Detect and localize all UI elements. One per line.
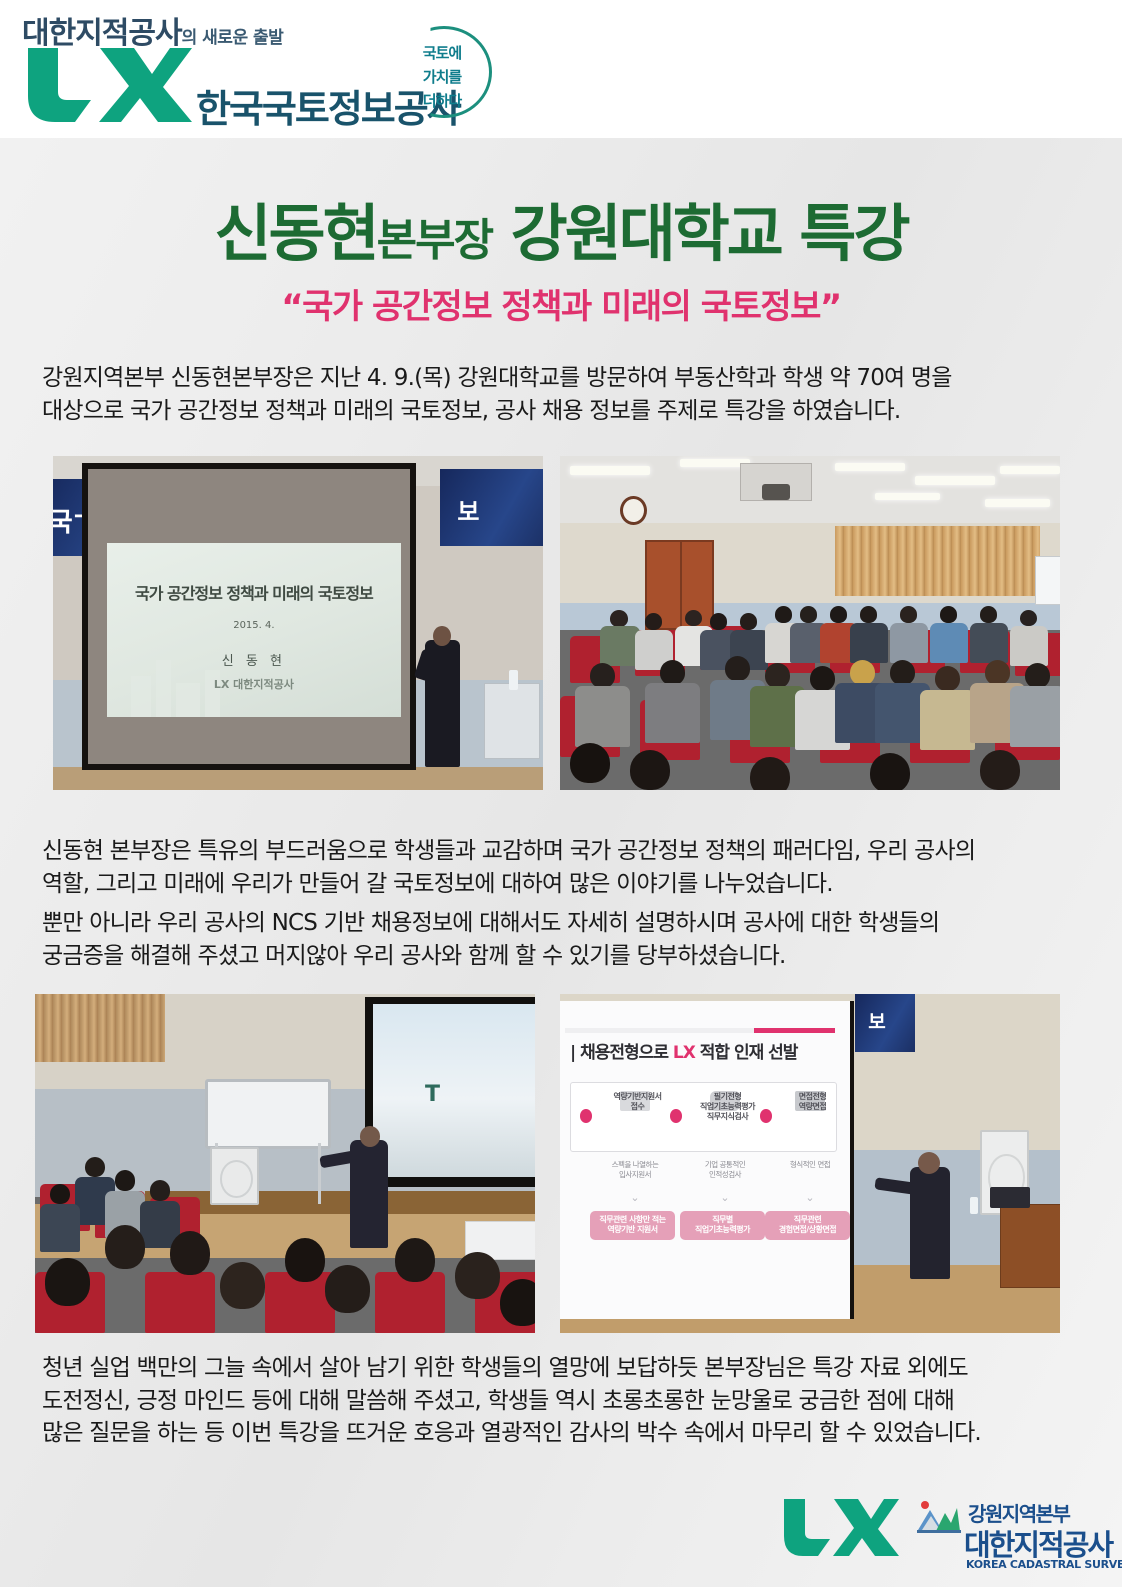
slogan-line-2: 가치를	[410, 66, 474, 87]
step-pill: 직무별 직업기초능력평가	[680, 1211, 765, 1240]
audience-head	[830, 606, 847, 623]
audience-head	[710, 613, 727, 630]
paragraph-end: 청년 실업 백만의 그늘 속에서 살아 남기 위한 학생들의 열망에 보답하듯 …	[42, 1352, 1092, 1450]
audience-body	[600, 626, 640, 666]
audience-body	[850, 623, 888, 663]
audience-body	[40, 1204, 80, 1251]
loudspeaker	[210, 1147, 259, 1205]
presenter-body	[910, 1167, 950, 1279]
audience-head	[1020, 610, 1037, 627]
audience-head	[890, 660, 915, 685]
photo-speaker-whiteboard: T	[35, 994, 535, 1333]
slogan-line-1: 국토에	[410, 42, 474, 63]
kcsc-corp-en: KOREA CADASTRAL SURVEY CORP.	[966, 1558, 1122, 1571]
audience-head	[985, 660, 1010, 685]
floor	[53, 767, 543, 790]
photo3-scene: T	[35, 994, 535, 1333]
step-subtext: 스펙을 나열하는 입사지원서	[595, 1160, 675, 1180]
whiteboard	[205, 1079, 331, 1149]
audience-head-front	[220, 1262, 265, 1309]
podium	[1000, 1204, 1060, 1287]
slide-presenter-name: 신 동 현	[117, 650, 391, 669]
slide-title-text: 국가 공간정보 정책과 미래의 국토정보	[117, 580, 391, 604]
lx-logo-icon	[22, 44, 194, 122]
step-arrow-icon	[760, 1109, 772, 1123]
audience-head-front	[105, 1225, 145, 1269]
kcsc-logo: 강원지역본부 대한지적공사 KOREA CADASTRAL SURVEY COR…	[916, 1486, 1110, 1578]
photo1-scene: 국가 공간정보 정책과 미래의 국토정보 2015. 4. 신 동 현 LX 대…	[53, 456, 543, 790]
window-curtain	[835, 526, 1040, 596]
audience-head	[940, 606, 957, 623]
audience-head	[1025, 663, 1050, 688]
seat	[145, 1272, 215, 1333]
audience-body	[890, 623, 928, 663]
slide-date-text: 2015. 4.	[117, 620, 391, 631]
slide-accent-bar	[565, 1028, 835, 1033]
step-arrow-icon	[670, 1109, 682, 1123]
page-title-rest: 강원대학교 특강	[492, 197, 907, 270]
mountain-mark-icon	[916, 1500, 962, 1538]
window-curtain	[35, 994, 165, 1062]
presenter-body	[425, 640, 459, 767]
step-label: 면접전형 역량면접	[775, 1092, 850, 1112]
audience-head	[685, 610, 702, 627]
photo-recruitment-slide: | 채용전형으로 LX 적합 인재 선발 역량기반지원서 접수 필기전형 직업기…	[560, 994, 1060, 1333]
slide-title-pre: | 채용전형으로	[570, 1043, 673, 1063]
audience-head	[900, 606, 917, 623]
audience-head-front	[980, 750, 1020, 790]
step-subtext: 기업 공통적인 인적성검사	[685, 1160, 765, 1180]
audience-head	[810, 666, 835, 691]
audience-head	[610, 610, 628, 627]
audience-body	[970, 623, 1008, 663]
audience-head	[850, 660, 875, 685]
paragraph-mid-2: 뿐만 아니라 우리 공사의 NCS 기반 채용정보에 대해서도 자세히 설명하시…	[42, 907, 1084, 972]
lx-logo-icon	[780, 1496, 900, 1558]
footer-logos: 강원지역본부 대한지적공사 KOREA CADASTRAL SURVEY COR…	[770, 1480, 1110, 1580]
audience-body	[1010, 626, 1048, 666]
audience-head-front	[870, 753, 910, 790]
slogan-badge: 국토에 가치를 더하다	[396, 26, 492, 118]
slide-title-accent: LX	[673, 1043, 695, 1063]
presenter-head	[360, 1126, 380, 1146]
audience-head	[935, 666, 960, 691]
chevron-down-icon: ⌄	[715, 1191, 735, 1204]
whiteboard	[1035, 556, 1060, 605]
step-subtext: 형식적인 면접	[770, 1160, 850, 1170]
step-label: 역량기반지원서 접수	[600, 1092, 675, 1112]
audience-head	[775, 606, 792, 623]
audience-head	[660, 660, 685, 685]
photo2-scene	[560, 456, 1060, 790]
audience-head-front	[285, 1238, 325, 1282]
audience-head	[725, 656, 750, 681]
audience-head	[740, 613, 757, 630]
paragraph-mid-1: 신동현 본부장은 특유의 부드러움으로 학생들과 교감하며 국가 공간정보 정책…	[42, 835, 1084, 900]
ceiling-light-6	[875, 493, 940, 500]
page-title: 신동현본부장 강원대학교 특강	[0, 183, 1122, 273]
paragraph-intro: 강원지역본부 신동현본부장은 지난 4. 9.(목) 강원대학교를 방문하여 부…	[42, 362, 1084, 427]
audience-head	[860, 606, 877, 623]
audience-head	[800, 606, 817, 623]
header-band: 대한지적공사의 새로운 출발 한국국토정보공사 국토에 가치를 더하다	[0, 0, 1122, 138]
page-title-name: 신동현	[214, 197, 376, 270]
audience-head-front	[630, 750, 670, 790]
header-tagline-rest: 의 새로운 출발	[182, 28, 284, 48]
side-desk	[484, 683, 540, 758]
projection-screen	[373, 1004, 536, 1177]
ceiling-light-3	[835, 463, 905, 472]
audience-body	[930, 623, 968, 663]
slide-title-post: 적합 인재 선발	[695, 1043, 798, 1063]
audience-head-front	[170, 1231, 210, 1275]
ceiling-light-4	[915, 476, 995, 485]
audience-head	[645, 613, 662, 630]
step-arrow-icon	[580, 1109, 592, 1123]
laptop	[990, 1187, 1030, 1207]
presenter-head	[918, 1152, 940, 1174]
audience-head	[980, 606, 997, 623]
slide-logo-text: LX 대한지적공사	[117, 676, 391, 692]
page-subtitle: “국가 공간정보 정책과 미래의 국토정보”	[0, 279, 1122, 328]
ceiling-light-5	[1000, 466, 1060, 474]
audience-head-front	[395, 1238, 435, 1282]
audience-head	[115, 1170, 135, 1190]
step-label: 필기전형 직업기초능력평가 직무지식검사	[690, 1092, 765, 1122]
audience-head	[590, 663, 615, 688]
audience-body	[645, 683, 700, 743]
photo-audience	[560, 456, 1060, 790]
photo4-scene: | 채용전형으로 LX 적합 인재 선발 역량기반지원서 접수 필기전형 직업기…	[560, 994, 1060, 1333]
audience-head-front	[455, 1252, 500, 1299]
chevron-down-icon: ⌄	[625, 1191, 645, 1204]
photo-lecture-screen: 국가 공간정보 정책과 미래의 국토정보 2015. 4. 신 동 현 LX 대…	[53, 456, 543, 790]
step-pill: 직무관련 경험면접/상황면접	[765, 1211, 850, 1240]
slide-text: T	[425, 1082, 440, 1107]
audience-head-front	[570, 743, 610, 783]
banner-right	[440, 469, 543, 546]
audience-body	[920, 690, 975, 750]
audience-head-front	[45, 1258, 90, 1305]
water-bottle	[509, 670, 519, 690]
ceiling-light-7	[985, 499, 1050, 506]
step-pill: 직무관련 사항만 적는 역량기반 지원서	[590, 1211, 675, 1240]
audience-head	[150, 1180, 170, 1200]
ceiling-light-1	[570, 466, 650, 475]
presenter-body	[350, 1140, 388, 1248]
water-bottle	[970, 1197, 978, 1214]
stage-edge	[145, 1191, 535, 1215]
audience-body	[1010, 686, 1060, 746]
audience-head	[85, 1157, 105, 1177]
slide-title: | 채용전형으로 LX 적합 인재 선발	[570, 1038, 850, 1063]
page-title-rank: 본부장	[377, 215, 492, 266]
audience-head-front	[500, 1279, 535, 1326]
ceiling-projector	[740, 463, 812, 502]
audience-head	[765, 663, 790, 688]
audience-head-front	[325, 1265, 370, 1312]
audience-body	[575, 686, 630, 746]
audience-head	[50, 1184, 70, 1204]
poster-page: 대한지적공사의 새로운 출발 한국국토정보공사 국토에 가치를 더하다 신동현본…	[0, 0, 1122, 1587]
chevron-down-icon: ⌄	[800, 1191, 820, 1204]
banner-right	[855, 994, 915, 1052]
slogan-line-3: 더하다	[410, 90, 474, 111]
